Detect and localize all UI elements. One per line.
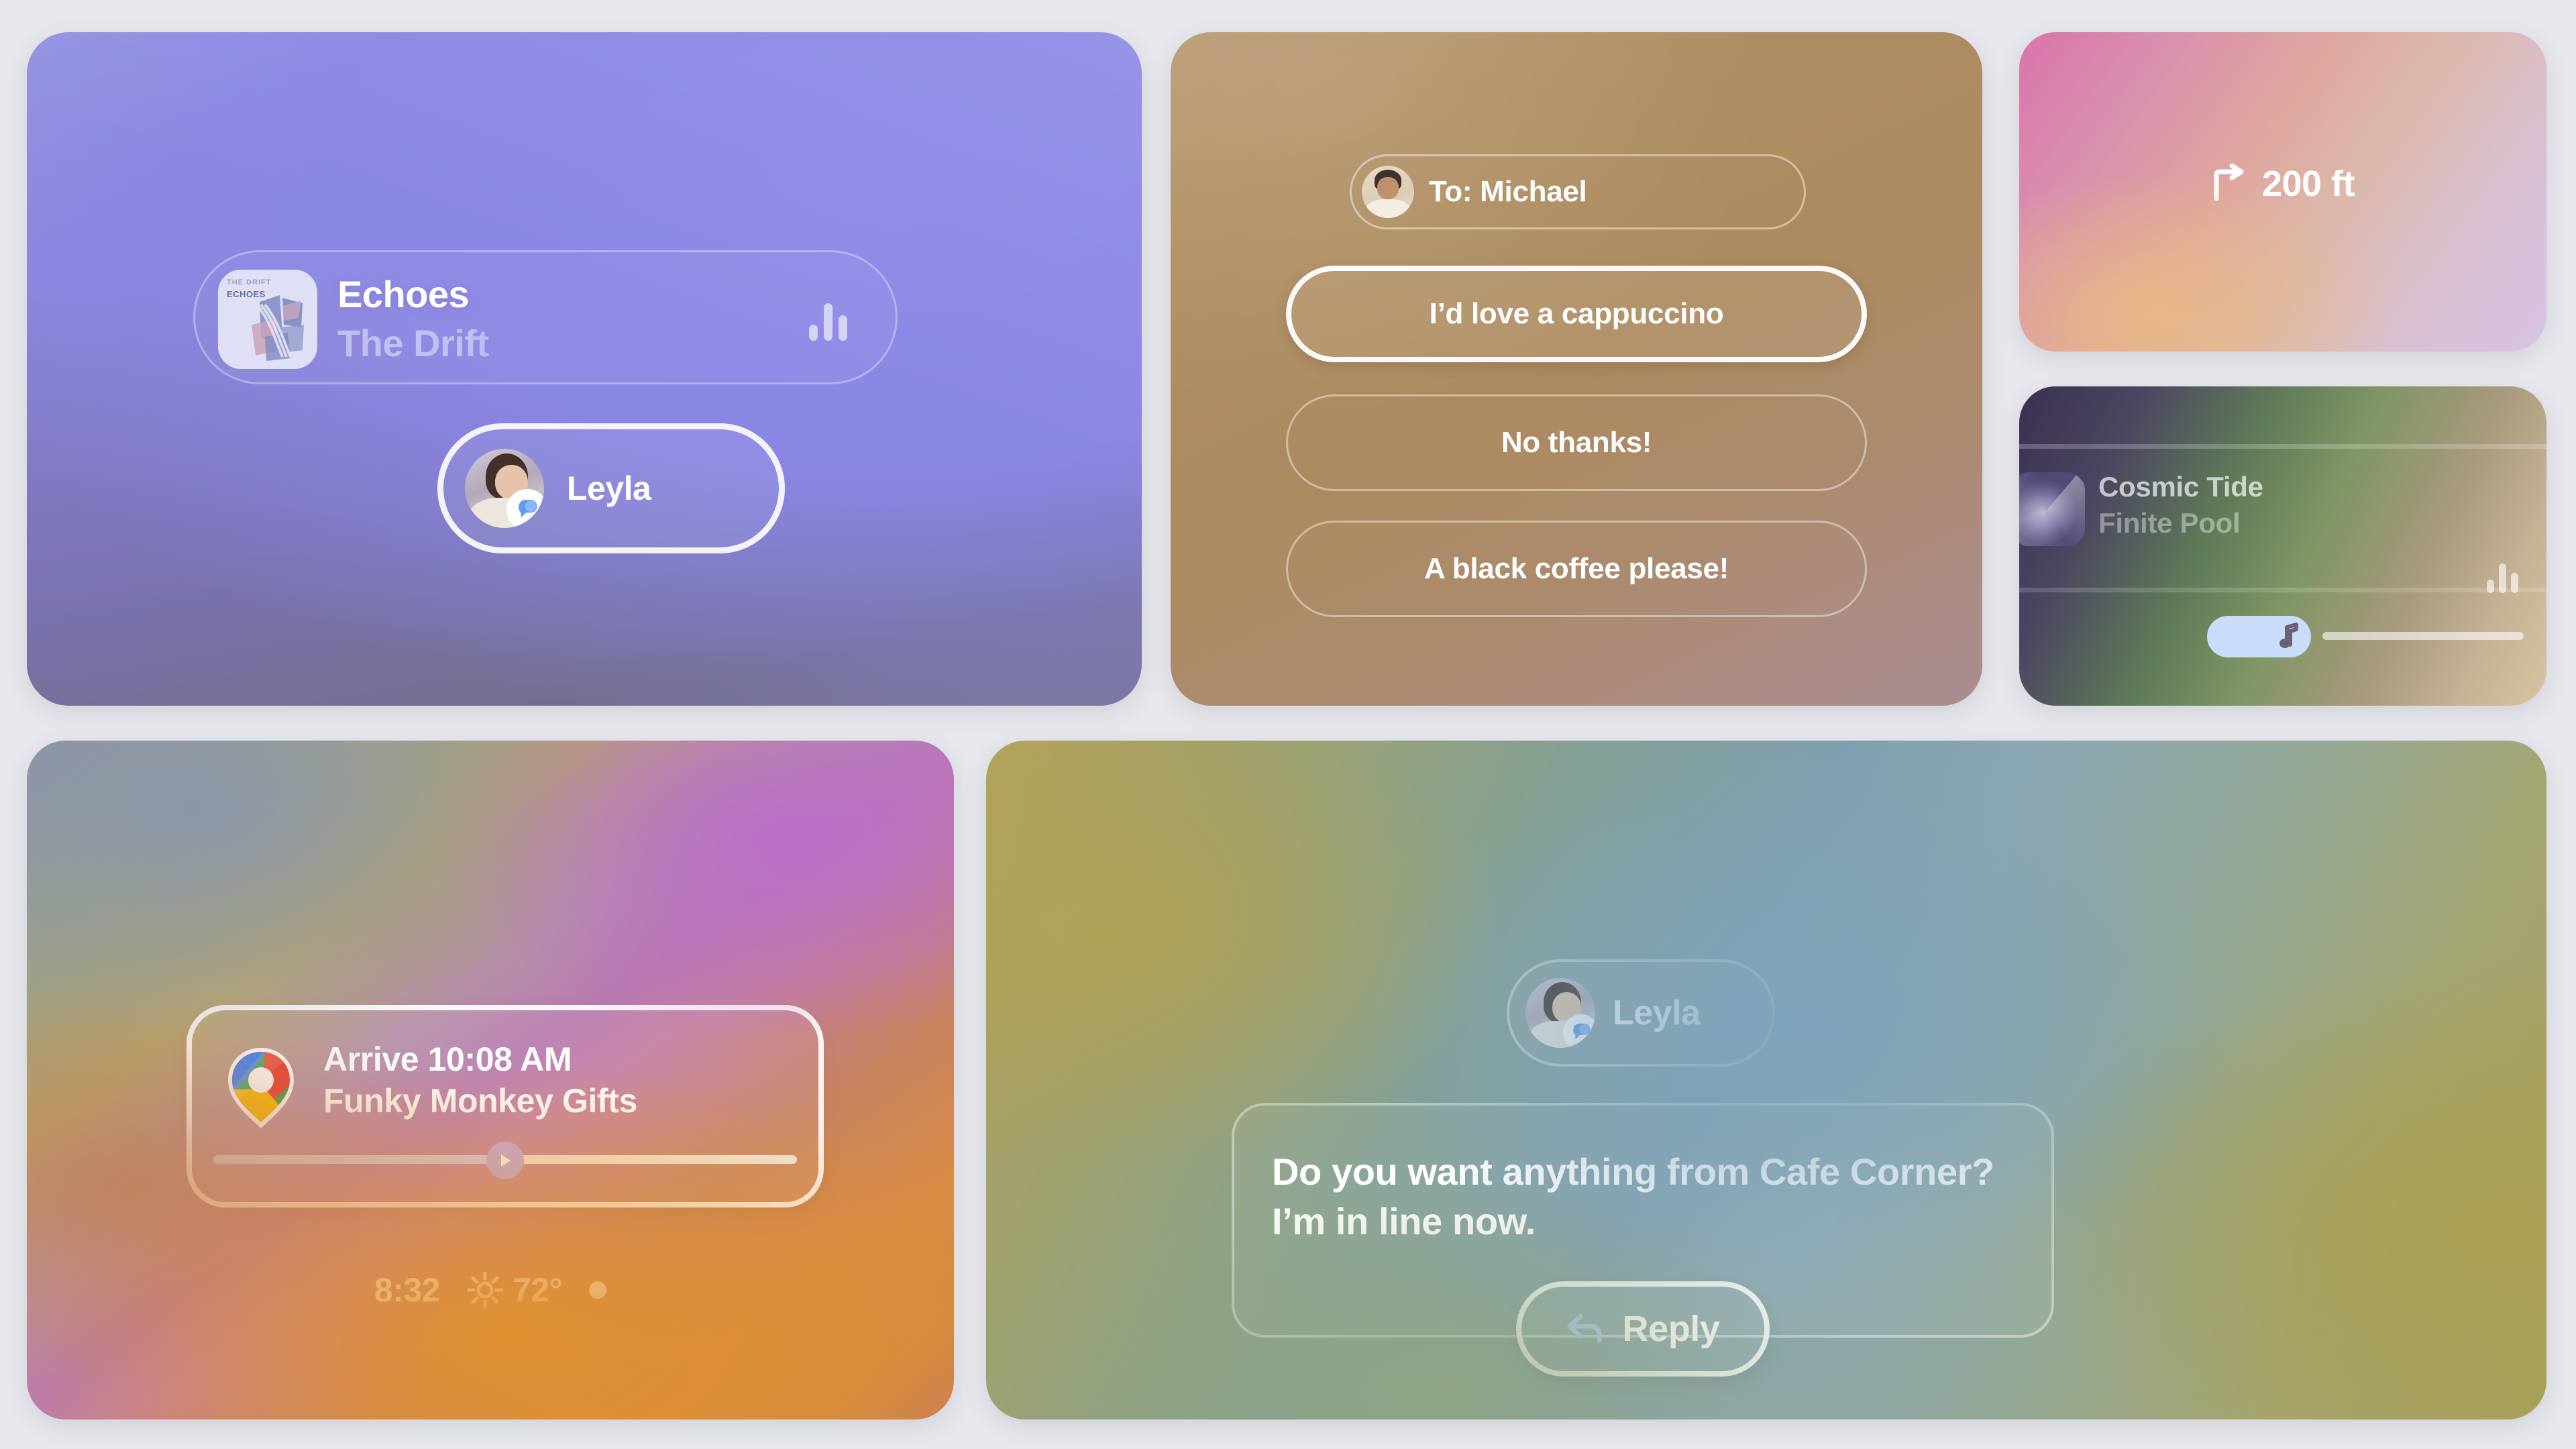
message-sender-name: Leyla: [1613, 993, 1700, 1033]
card-now-playing[interactable]: THE DRIFT ECHOES Echoes The Drift: [27, 32, 1142, 706]
message-body: Do you want anything from Cafe Corner? I…: [1272, 1147, 2025, 1246]
widget-board: THE DRIFT ECHOES Echoes The Drift: [0, 0, 2576, 1449]
reply-button-label: Reply: [1622, 1308, 1719, 1350]
avatar: [465, 449, 544, 528]
divider: [2019, 588, 2546, 592]
quick-reply-option-0[interactable]: I’d love a cappuccino: [1286, 266, 1867, 362]
messages-icon: [1563, 1014, 1595, 1048]
music-note-icon: [2277, 622, 2299, 652]
maps-pin-icon: [221, 1045, 301, 1131]
contact-name: Leyla: [567, 469, 651, 508]
message-bubble: Do you want anything from Cafe Corner? I…: [1232, 1103, 2054, 1338]
album-art: THE DRIFT ECHOES: [218, 270, 317, 369]
music-note-pill[interactable]: [2207, 616, 2311, 657]
progress-remaining: [505, 1155, 797, 1164]
now-playing-text: Echoes The Drift: [337, 272, 807, 365]
status-row: 8:32 72°: [27, 1271, 954, 1309]
recipient-label: To: Michael: [1429, 175, 1587, 209]
eta-card[interactable]: Arrive 10:08 AM Funky Monkey Gifts: [186, 1005, 824, 1207]
album-art-artist-label: THE DRIFT: [227, 278, 271, 286]
navigation-distance: 200 ft: [2262, 163, 2355, 205]
card-message[interactable]: Leyla Do you want anything from Cafe Cor…: [986, 741, 2546, 1419]
card-navigation[interactable]: 200 ft: [2019, 32, 2546, 352]
quick-reply-label: No thanks!: [1501, 426, 1652, 460]
now-playing-pill[interactable]: THE DRIFT ECHOES Echoes The Drift: [193, 250, 898, 384]
equalizer-icon: [2487, 563, 2518, 593]
album-art: [2019, 472, 2085, 546]
track-title: Cosmic Tide: [2098, 471, 2263, 503]
quick-reply-label: I’d love a cappuccino: [1430, 297, 1724, 331]
quick-reply-option-2[interactable]: A black coffee please!: [1286, 521, 1867, 617]
card-music-mini[interactable]: Cosmic Tide Finite Pool: [2019, 386, 2546, 706]
reply-arrow-icon: [1566, 1311, 1605, 1348]
quick-reply-option-1[interactable]: No thanks!: [1286, 394, 1867, 491]
track-title: Echoes: [337, 272, 807, 316]
avatar: [1525, 978, 1595, 1048]
messages-icon: [506, 489, 544, 528]
divider: [2019, 444, 2546, 449]
track-artist: The Drift: [337, 321, 807, 365]
clock-time: 8:32: [374, 1271, 440, 1309]
avatar: [1362, 166, 1414, 218]
route-progress-slider[interactable]: [213, 1152, 797, 1166]
album-art-title-label: ECHOES: [227, 289, 266, 299]
status-dot: [589, 1281, 606, 1299]
contact-pill-leyla[interactable]: Leyla: [437, 423, 785, 553]
temperature: 72°: [513, 1271, 562, 1309]
destination-text: Funky Monkey Gifts: [323, 1081, 637, 1120]
sun-icon: 72°: [467, 1271, 562, 1309]
turn-right-icon: [2211, 164, 2247, 205]
message-sender-pill[interactable]: Leyla: [1507, 959, 1775, 1067]
card-quick-reply[interactable]: To: Michael I’d love a cappuccino No tha…: [1171, 32, 1982, 706]
track-artist: Finite Pool: [2098, 507, 2240, 539]
eta-text: Arrive 10:08 AM: [323, 1040, 572, 1079]
card-maps-navigation[interactable]: Arrive 10:08 AM Funky Monkey Gifts 8:32: [27, 741, 954, 1419]
recipient-pill[interactable]: To: Michael: [1350, 154, 1806, 229]
navigation-row: 200 ft: [2019, 163, 2546, 205]
progress-track[interactable]: [2322, 632, 2524, 640]
reply-button[interactable]: Reply: [1516, 1281, 1770, 1377]
equalizer-icon: [809, 303, 847, 341]
quick-reply-label: A black coffee please!: [1424, 552, 1729, 586]
progress-fill: [213, 1155, 505, 1164]
navigation-arrow-icon[interactable]: [486, 1142, 524, 1179]
